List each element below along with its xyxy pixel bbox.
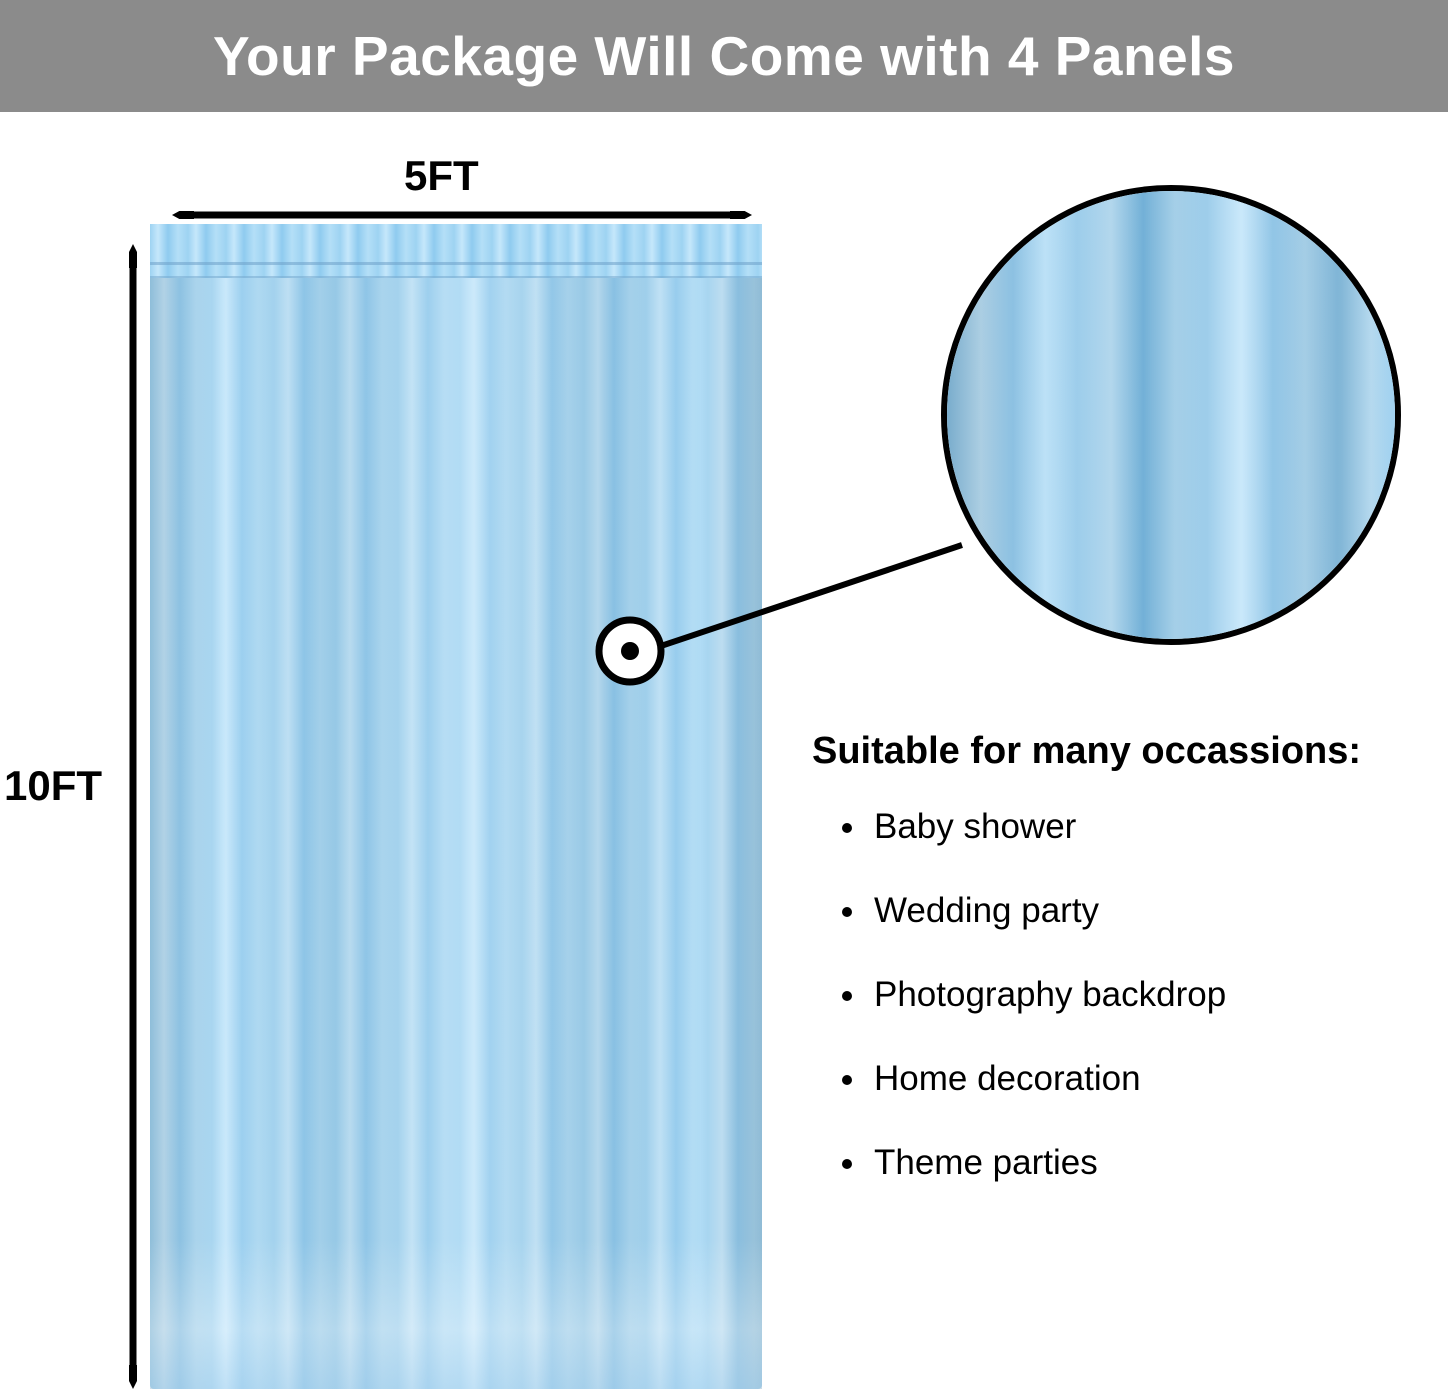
curtain-floor-shadow: [150, 1239, 762, 1389]
occasions-title: Suitable for many occassions:: [812, 730, 1432, 773]
bullet-icon: [842, 1159, 852, 1169]
bullet-icon: [842, 823, 852, 833]
fabric-zoom-shading: [947, 191, 1395, 639]
occasion-label: Home decoration: [874, 1059, 1141, 1098]
fabric-zoom-circle: [941, 185, 1401, 645]
header-banner: Your Package Will Come with 4 Panels: [0, 0, 1448, 112]
bullet-icon: [842, 907, 852, 917]
height-dimension-arrow: [129, 244, 137, 1389]
occasion-label: Wedding party: [874, 891, 1099, 930]
bullet-icon: [842, 991, 852, 1001]
width-dimension-arrow: [172, 211, 752, 219]
list-item: Photography backdrop: [874, 975, 1432, 1015]
occasions-list: Baby shower Wedding party Photography ba…: [812, 807, 1432, 1183]
curtain-panel-image: [150, 224, 762, 1389]
list-item: Wedding party: [874, 891, 1432, 931]
occasion-label: Theme parties: [874, 1143, 1098, 1182]
list-item: Home decoration: [874, 1059, 1432, 1099]
list-item: Baby shower: [874, 807, 1432, 847]
zoom-callout-leader: [590, 600, 990, 710]
occasion-label: Photography backdrop: [874, 975, 1226, 1014]
width-label: 5FT: [404, 152, 479, 200]
occasions-section: Suitable for many occassions: Baby showe…: [812, 730, 1432, 1227]
occasion-label: Baby shower: [874, 807, 1076, 846]
product-infographic: Your Package Will Come with 4 Panels 5FT…: [0, 0, 1448, 1399]
curtain-rod-pocket: [150, 224, 762, 278]
header-title: Your Package Will Come with 4 Panels: [213, 24, 1235, 88]
curtain-rod-seam: [150, 262, 762, 265]
bullet-icon: [842, 1075, 852, 1085]
curtain-shading-overlay: [150, 224, 762, 1389]
height-label: 10FT: [4, 762, 102, 810]
list-item: Theme parties: [874, 1143, 1432, 1183]
